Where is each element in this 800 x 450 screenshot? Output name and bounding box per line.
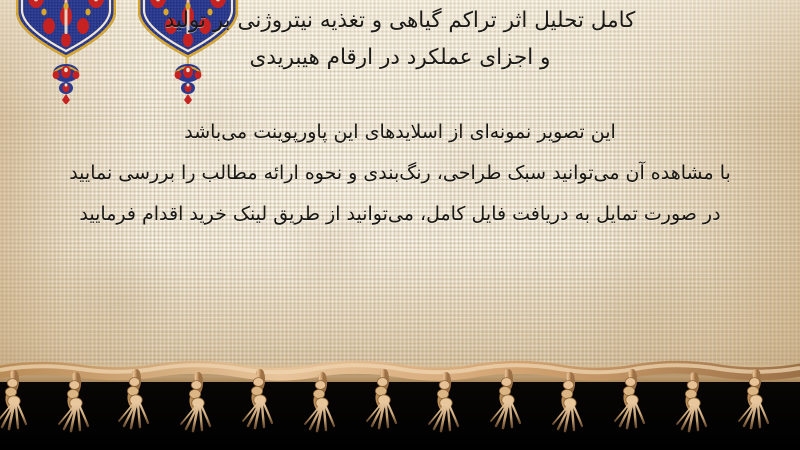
slide-body: این تصویر نمونه‌ای از اسلایدهای این پاور… — [0, 112, 800, 235]
title-line-2: و اجزای عملکرد در ارقام هیبریدی — [0, 39, 800, 76]
slide-title: کامل تحلیل اثر تراکم گیاهی و تغذیه نیترو… — [0, 2, 800, 76]
background-shade-bottom — [0, 245, 800, 375]
body-line-2: با مشاهده آن می‌توانید سبک طراحی، رنگ‌بن… — [0, 153, 800, 194]
slide-canvas: کامل تحلیل اثر تراکم گیاهی و تغذیه نیترو… — [0, 0, 800, 450]
body-line-3: در صورت تمایل به دریافت فایل کامل، می‌تو… — [0, 194, 800, 235]
title-line-1: کامل تحلیل اثر تراکم گیاهی و تغذیه نیترو… — [0, 2, 800, 39]
carpet-fringe — [0, 358, 800, 450]
body-line-1: این تصویر نمونه‌ای از اسلایدهای این پاور… — [0, 112, 800, 153]
